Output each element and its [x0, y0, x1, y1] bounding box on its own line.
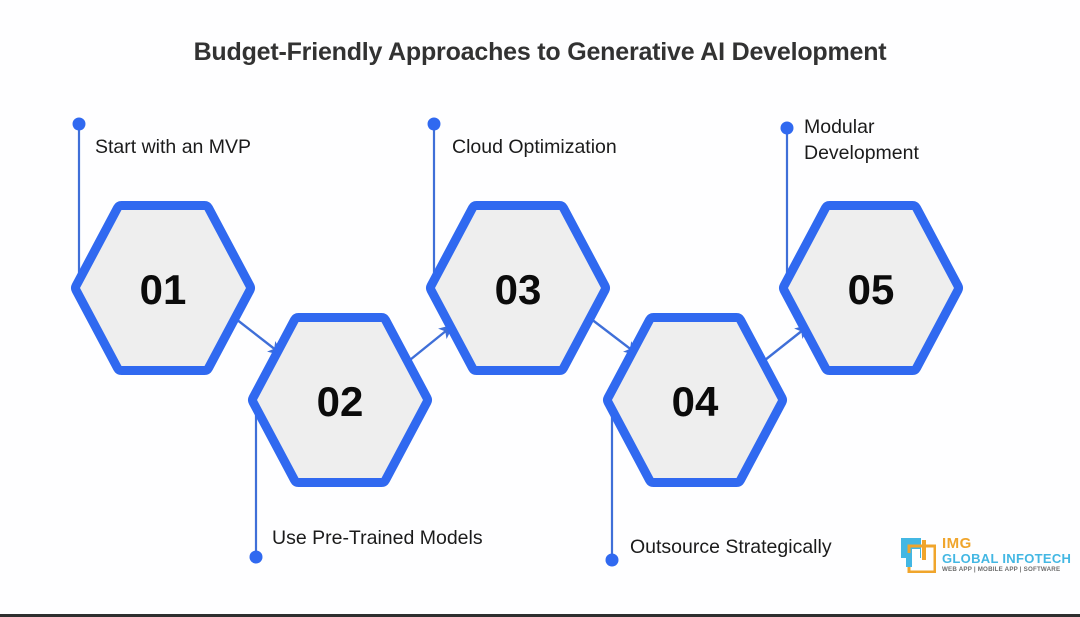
- hexagon-step-5[interactable]: [788, 210, 954, 366]
- hexagon-step-3[interactable]: [435, 210, 601, 366]
- connector-dot-step-1: [73, 118, 86, 131]
- connector-dot-step-4: [606, 554, 619, 567]
- connector-dot-step-2: [250, 551, 263, 564]
- step-label-1: Start with an MVP: [95, 134, 251, 160]
- step-label-5: Modular Development: [804, 114, 919, 166]
- logo-tagline-text: WEB APP | MOBILE APP | SOFTWARE: [942, 567, 1071, 573]
- logo-mark-icon: [900, 537, 936, 573]
- connector-dot-step-5: [781, 122, 794, 135]
- step-label-4: Outsource Strategically: [630, 534, 832, 560]
- hexagon-step-4[interactable]: [612, 322, 778, 478]
- logo-name-text: GLOBAL INFOTECH: [942, 552, 1071, 565]
- hexagon-step-2[interactable]: [257, 322, 423, 478]
- step-label-2: Use Pre-Trained Models: [272, 525, 483, 551]
- diagram-vector-layer: [0, 0, 1080, 617]
- connector-dot-step-3: [428, 118, 441, 131]
- infographic-canvas: Budget-Friendly Approaches to Generative…: [0, 0, 1080, 617]
- hexagon-step-1[interactable]: [80, 210, 246, 366]
- logo-brand-text: IMG: [942, 536, 1071, 551]
- company-logo[interactable]: IMG GLOBAL INFOTECH WEB APP | MOBILE APP…: [900, 536, 1071, 573]
- step-label-3: Cloud Optimization: [452, 134, 617, 160]
